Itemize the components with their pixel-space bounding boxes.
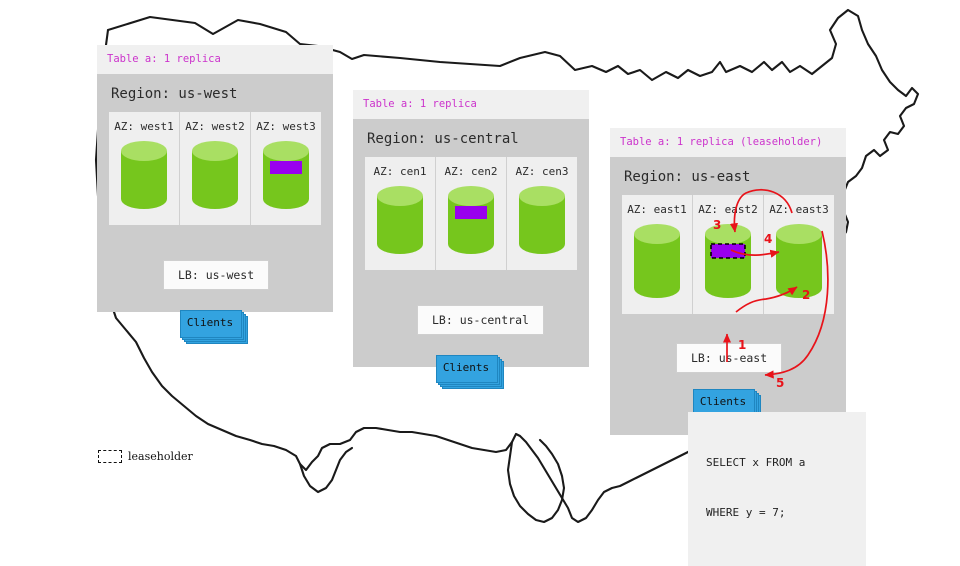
az-cell-cen2[interactable]: AZ: cen2	[436, 157, 507, 270]
cylinder-west1	[109, 139, 179, 211]
step-number-1: 1	[738, 338, 746, 352]
region-title-us-east: Region: us-east	[610, 157, 846, 195]
panel-body-us-west: Region: us-west AZ: west1 AZ: west2	[97, 74, 333, 312]
replica-block-west3	[270, 161, 302, 174]
load-balancer-us-central[interactable]: LB: us-central	[417, 305, 544, 335]
region-panel-us-central: Table a: 1 replica Region: us-central AZ…	[353, 90, 589, 367]
step-number-5: 5	[776, 376, 784, 390]
clients-label-us-central: Clients	[436, 355, 496, 381]
az-label-west3: AZ: west3	[251, 120, 321, 133]
step-number-2: 2	[802, 288, 810, 302]
load-balancer-us-west[interactable]: LB: us-west	[163, 260, 269, 290]
cylinder-west2	[180, 139, 250, 211]
az-row-us-central: AZ: cen1 AZ: cen2	[365, 157, 577, 270]
panel-header-us-east: Table a: 1 replica (leaseholder)	[610, 128, 846, 157]
cylinder-cen3	[507, 184, 577, 256]
az-cell-west3[interactable]: AZ: west3	[251, 112, 321, 225]
cylinder-east1	[622, 222, 692, 300]
legend-leaseholder: leaseholder	[98, 450, 193, 463]
clients-label-us-east: Clients	[693, 389, 753, 415]
sql-query-box: SELECT x FROM a WHERE y = 7;	[688, 412, 866, 566]
az-label-east2: AZ: east2	[693, 203, 763, 216]
az-cell-west1[interactable]: AZ: west1	[109, 112, 180, 225]
sql-line-2: WHERE y = 7;	[706, 505, 852, 522]
cylinder-west3	[251, 139, 321, 211]
cylinder-cen1	[365, 184, 435, 256]
cylinder-east2	[693, 222, 763, 300]
step-number-3: 3	[713, 218, 721, 232]
az-cell-east2[interactable]: AZ: east2	[693, 195, 764, 314]
az-label-west2: AZ: west2	[180, 120, 250, 133]
az-label-east3: AZ: east3	[764, 203, 834, 216]
az-cell-east3[interactable]: AZ: east3	[764, 195, 834, 314]
az-cell-cen1[interactable]: AZ: cen1	[365, 157, 436, 270]
az-label-cen3: AZ: cen3	[507, 165, 577, 178]
az-label-west1: AZ: west1	[109, 120, 179, 133]
cylinder-cen2	[436, 184, 506, 256]
region-title-us-central: Region: us-central	[353, 119, 589, 157]
replica-block-cen2	[455, 206, 487, 219]
region-panel-us-east: Table a: 1 replica (leaseholder) Region:…	[610, 128, 846, 435]
az-cell-east1[interactable]: AZ: east1	[622, 195, 693, 314]
clients-stack-us-west[interactable]: Clients	[180, 310, 246, 338]
az-row-us-west: AZ: west1 AZ: west2	[109, 112, 321, 225]
az-cell-west2[interactable]: AZ: west2	[180, 112, 251, 225]
az-label-cen1: AZ: cen1	[365, 165, 435, 178]
diagram-canvas: Table a: 1 replica Region: us-west AZ: w…	[0, 0, 960, 540]
clients-stack-us-central[interactable]: Clients	[436, 355, 502, 383]
sql-line-1: SELECT x FROM a	[706, 455, 852, 472]
panel-header-us-west: Table a: 1 replica	[97, 45, 333, 74]
load-balancer-us-east[interactable]: LB: us-east	[676, 343, 782, 373]
az-cell-cen3[interactable]: AZ: cen3	[507, 157, 577, 270]
legend-label: leaseholder	[128, 450, 193, 463]
region-panel-us-west: Table a: 1 replica Region: us-west AZ: w…	[97, 45, 333, 312]
cylinder-east3	[764, 222, 834, 300]
dashed-rect-icon	[98, 450, 122, 463]
clients-label-us-west: Clients	[180, 310, 240, 336]
panel-header-us-central: Table a: 1 replica	[353, 90, 589, 119]
region-title-us-west: Region: us-west	[97, 74, 333, 112]
panel-body-us-central: Region: us-central AZ: cen1 AZ: cen2	[353, 119, 589, 367]
az-label-cen2: AZ: cen2	[436, 165, 506, 178]
step-number-4: 4	[764, 232, 772, 246]
az-label-east1: AZ: east1	[622, 203, 692, 216]
leaseholder-block-east2	[711, 244, 745, 258]
panel-body-us-east: Region: us-east AZ: east1 AZ: east2	[610, 157, 846, 435]
